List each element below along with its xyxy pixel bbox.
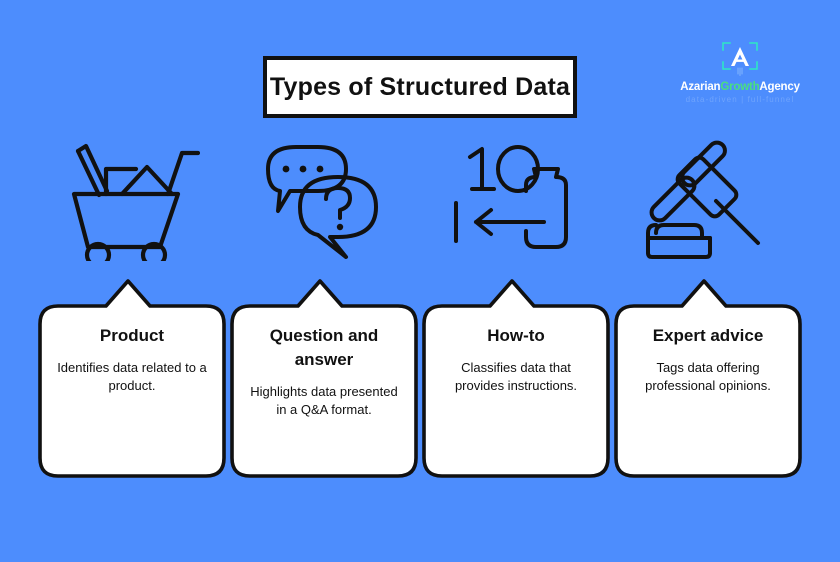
category-column-expert-advice: Expert advice Tags data offering profess… [612,130,804,481]
card-title: Product [52,324,212,348]
question-answer-bubbles-icon [228,130,420,270]
azarian-a-logo-icon [720,40,760,78]
card-description: Identifies data related to a product. [52,359,212,395]
page-title: Types of Structured Data [270,73,570,102]
card-question-answer: Question and answer Highlights data pres… [228,276,420,481]
how-to-steps-icon [420,130,612,270]
logo-word-azarian: Azarian [680,81,720,93]
card-title: Expert advice [628,324,788,348]
card-content: Question and answer Highlights data pres… [228,276,420,481]
card-description: Classifies data that provides instructio… [436,359,596,395]
card-title: How-to [436,324,596,348]
card-content: Expert advice Tags data offering profess… [612,276,804,481]
card-description: Highlights data presented in a Q&A forma… [244,383,404,419]
gavel-icon [612,130,804,270]
logo-tagline: data-driven | full-funnel [675,95,805,104]
logo-word-agency: Agency [759,81,799,93]
infographic-canvas: Types of Structured Data AzarianGrowthAg… [0,0,840,562]
card-content: Product Identifies data related to a pro… [36,276,228,481]
card-description: Tags data offering professional opinions… [628,359,788,395]
brand-logo: AzarianGrowthAgency data-driven | full-f… [675,40,805,110]
category-column-product: Product Identifies data related to a pro… [36,130,228,481]
card-content: How-to Classifies data that provides ins… [420,276,612,481]
category-column-how-to: How-to Classifies data that provides ins… [420,130,612,481]
shopping-cart-icon [36,130,228,270]
logo-wordmark: AzarianGrowthAgency [675,81,805,94]
logo-word-growth: Growth [720,81,759,93]
card-title: Question and answer [244,324,404,372]
page-title-box: Types of Structured Data [263,56,577,118]
card-product: Product Identifies data related to a pro… [36,276,228,481]
category-column-question-answer: Question and answer Highlights data pres… [228,130,420,481]
card-how-to: How-to Classifies data that provides ins… [420,276,612,481]
card-expert-advice: Expert advice Tags data offering profess… [612,276,804,481]
